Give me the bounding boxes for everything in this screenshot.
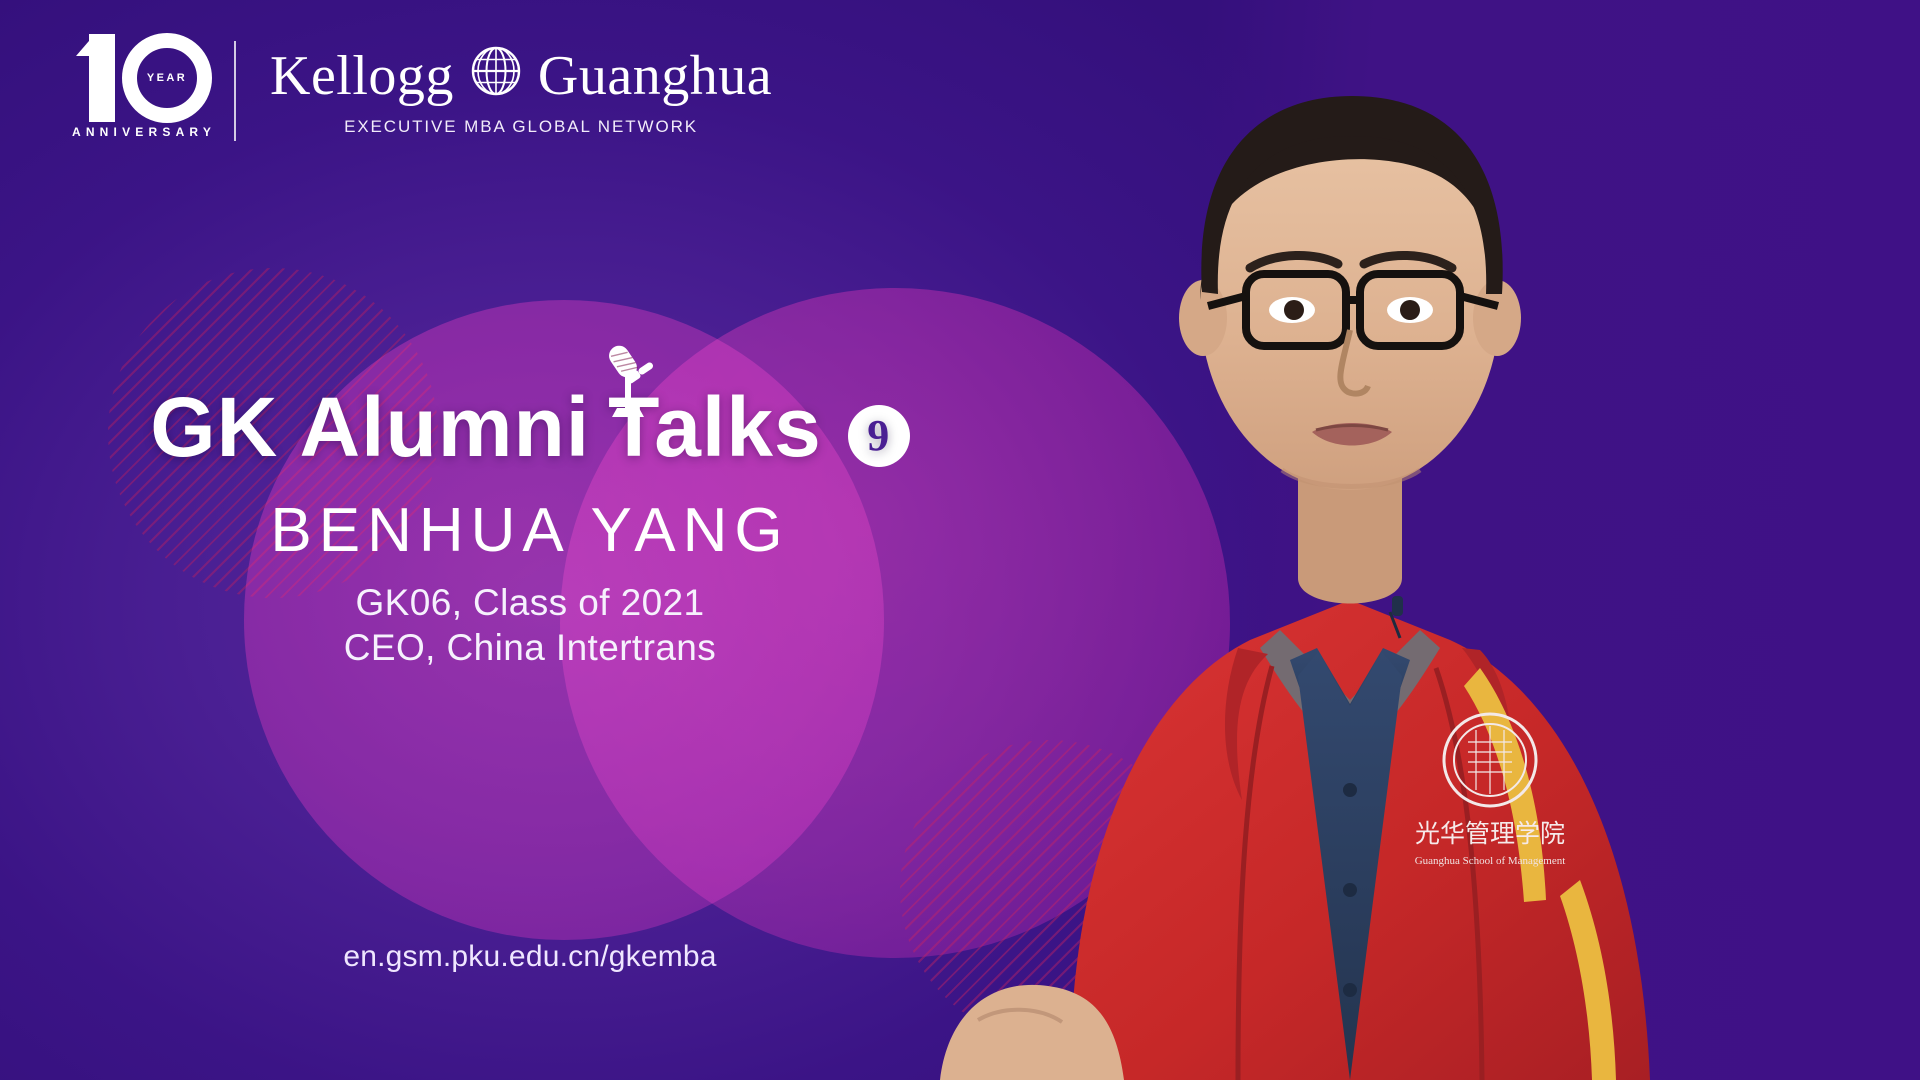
title-block: GK Alumni Talks 9: [0, 385, 1060, 670]
series-title-talks-group: Talks: [608, 385, 822, 469]
brand-name-kellogg: Kellogg: [270, 48, 454, 105]
brand-name-row: Kellogg Guanghua: [270, 45, 772, 108]
brand-name-block: Kellogg Guanghua EXECUTIVE MBA GLOBAL NE…: [270, 45, 772, 136]
speaker-class: GK06, Class of 2021: [0, 580, 1060, 625]
anniversary-mark: YEAR ANNIVERSARY: [78, 30, 206, 152]
anniversary-word: ANNIVERSARY: [68, 125, 216, 139]
brand-divider: [234, 41, 236, 141]
brand-subtitle: EXECUTIVE MBA GLOBAL NETWORK: [270, 117, 772, 137]
anniversary-digit-one: [89, 34, 115, 122]
episode-number-badge: 9: [848, 405, 910, 467]
brand-name-guanghua: Guanghua: [538, 48, 772, 105]
speaker-role: CEO, China Intertrans: [0, 625, 1060, 670]
anniversary-numeral: YEAR: [81, 30, 203, 122]
background-right-panel: [1200, 0, 1920, 1080]
globe-icon: [470, 45, 522, 108]
brand-lockup: YEAR ANNIVERSARY Kellogg: [78, 30, 772, 152]
series-title: GK Alumni Talks 9: [0, 385, 1060, 473]
series-title-part-one: GK Alumni: [150, 385, 590, 469]
microphone-icon: [594, 341, 664, 419]
speaker-details: GK06, Class of 2021 CEO, China Intertran…: [0, 580, 1060, 670]
anniversary-year-label: YEAR: [122, 33, 212, 123]
speaker-name: BENHUA YANG: [0, 495, 1060, 566]
poster-canvas: YEAR ANNIVERSARY Kellogg: [0, 0, 1920, 1080]
footer-url: en.gsm.pku.edu.cn/gkemba: [0, 940, 1060, 974]
